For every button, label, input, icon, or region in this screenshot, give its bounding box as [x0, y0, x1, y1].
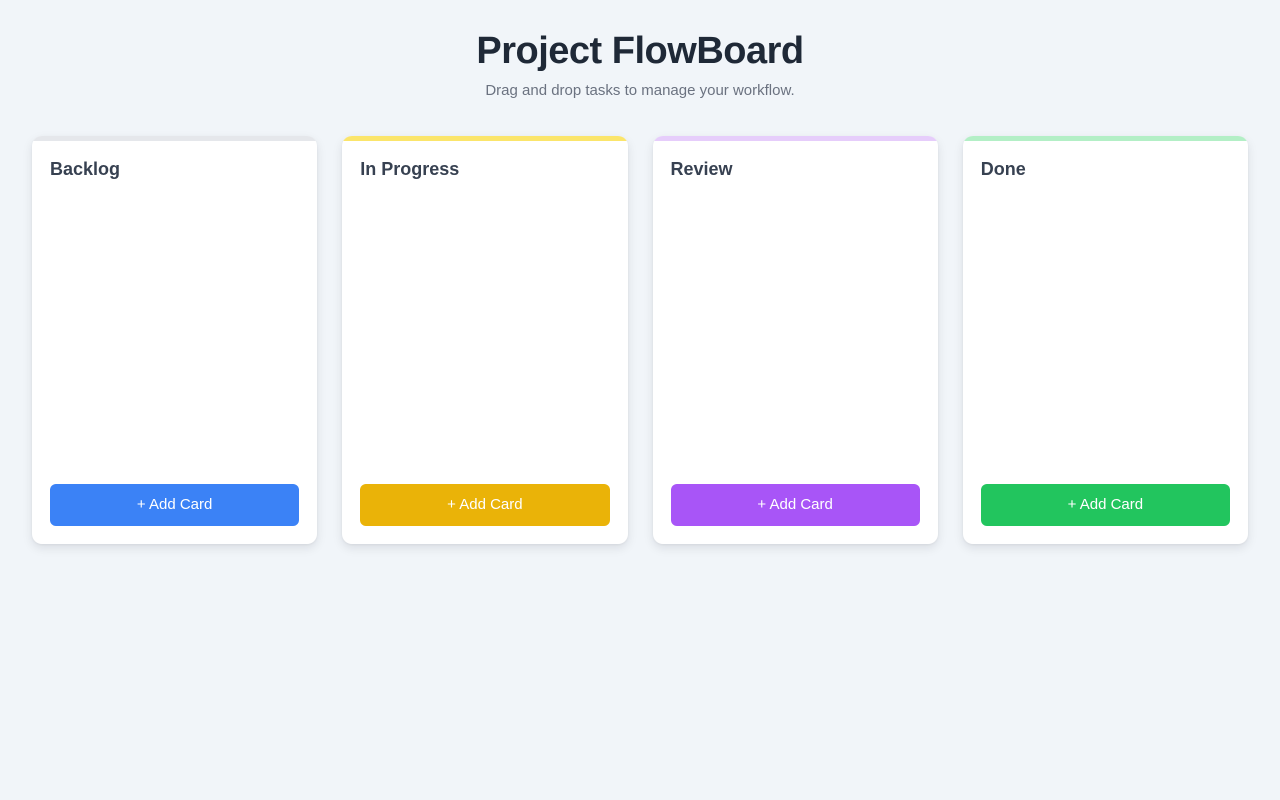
column-title: Done — [981, 159, 1230, 181]
board-header: Project FlowBoard Drag and drop tasks to… — [0, 0, 1280, 99]
column-body: Backlog + Add Card — [32, 141, 317, 544]
add-card-button-backlog[interactable]: + Add Card — [50, 484, 299, 526]
card-dropzone-backlog[interactable] — [50, 184, 299, 483]
board-column-done[interactable]: Done + Add Card — [963, 136, 1248, 544]
board-page: Project FlowBoard Drag and drop tasks to… — [0, 0, 1280, 800]
column-body: Review + Add Card — [653, 141, 938, 544]
page-title: Project FlowBoard — [0, 28, 1280, 76]
board-column-review[interactable]: Review + Add Card — [653, 136, 938, 544]
column-body: Done + Add Card — [963, 141, 1248, 544]
add-card-button-done[interactable]: + Add Card — [981, 484, 1230, 526]
column-title: In Progress — [360, 159, 609, 181]
board-column-backlog[interactable]: Backlog + Add Card — [32, 136, 317, 544]
board-column-in-progress[interactable]: In Progress + Add Card — [342, 136, 627, 544]
add-card-button-review[interactable]: + Add Card — [671, 484, 920, 526]
add-card-button-in-progress[interactable]: + Add Card — [360, 484, 609, 526]
column-body: In Progress + Add Card — [342, 141, 627, 544]
column-title: Backlog — [50, 159, 299, 181]
card-dropzone-review[interactable] — [671, 184, 920, 483]
card-dropzone-in-progress[interactable] — [360, 184, 609, 483]
card-dropzone-done[interactable] — [981, 184, 1230, 483]
page-subtitle: Drag and drop tasks to manage your workf… — [0, 82, 1280, 99]
kanban-board: Backlog + Add Card In Progress + Add Car… — [0, 99, 1280, 544]
column-title: Review — [671, 159, 920, 181]
